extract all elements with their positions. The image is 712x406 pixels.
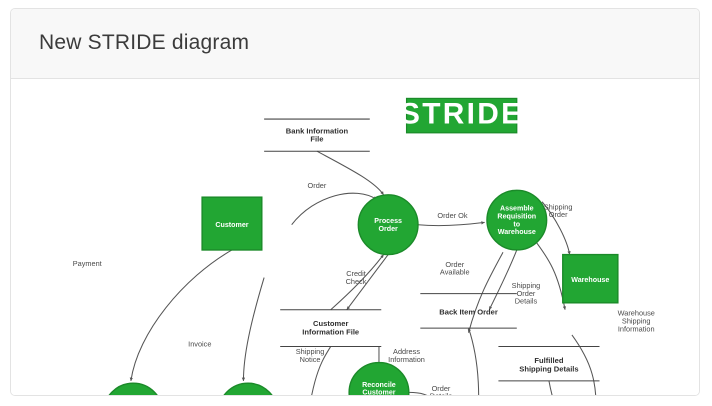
diagram-card: New STRIDE diagram <box>10 8 700 396</box>
flow-shipping-notice-label: ShippingNotice <box>296 347 325 364</box>
flow-payment-label: Payment <box>73 259 102 268</box>
diagram-canvas[interactable]: Customer Warehouse ProcessOrder Assemble… <box>11 80 699 396</box>
store-back-item-order[interactable]: Back Item Order <box>420 294 516 328</box>
flow-shipping-details-label: ShippingOrderDetails <box>512 281 541 306</box>
process-reconcile-customer-label: ReconcileCustomerOrders <box>362 381 396 396</box>
store-bank-information-file-label: Bank InformationFile <box>286 126 349 143</box>
card-header: New STRIDE diagram <box>11 9 699 79</box>
flow-order-label: Order <box>308 181 327 190</box>
store-customer-information-label: CustomerInformation File <box>302 319 359 336</box>
process-assemble-requisition[interactable]: AssembleRequisitiontoWarehouse <box>487 190 547 250</box>
process-apply-credits[interactable]: ApplyCredits toInvoice <box>103 383 163 396</box>
store-fulfilled-shipping-label: FulfilledShipping Details <box>519 356 578 373</box>
flow-order-details-label: OrderDetails <box>430 384 453 396</box>
process-process-order[interactable]: ProcessOrder <box>358 195 418 255</box>
dfd-svg[interactable]: Customer Warehouse ProcessOrder Assemble… <box>11 80 700 396</box>
flow-order-ok-label: Order Ok <box>437 211 468 220</box>
flow-invoice-label: Invoice <box>188 339 211 348</box>
store-bank-information-file[interactable]: Bank InformationFile <box>264 119 370 151</box>
flow-warehouse-shipping-label: WarehouseShippingInformation <box>618 309 655 334</box>
process-reconcile-customer[interactable]: ReconcileCustomerOrders <box>349 363 409 396</box>
flow-order-available-label: OrderAvailable <box>440 260 470 277</box>
entity-customer[interactable]: Customer <box>202 197 262 250</box>
page-title: New STRIDE diagram <box>39 31 249 55</box>
flow-address-info-label: AddressInformation <box>388 347 425 364</box>
flow-credit-check-label: CreditCheck <box>346 269 367 286</box>
store-customer-information[interactable]: CustomerInformation File <box>280 310 381 347</box>
process-assemble-requisition-label: AssembleRequisitiontoWarehouse <box>497 205 536 236</box>
process-invoice-notification[interactable]: InvoiceNotification <box>218 383 278 396</box>
stride-banner[interactable]: STRIDE <box>400 98 523 133</box>
entity-warehouse[interactable]: Warehouse <box>563 255 618 303</box>
entity-warehouse-label: Warehouse <box>571 276 609 284</box>
flow-shipping-order-label: ShippingOrder <box>544 202 573 219</box>
store-back-item-order-label: Back Item Order <box>439 307 498 316</box>
store-fulfilled-shipping[interactable]: FulfilledShipping Details <box>498 346 599 380</box>
entity-customer-label: Customer <box>215 221 248 229</box>
stride-banner-label: STRIDE <box>400 98 523 131</box>
